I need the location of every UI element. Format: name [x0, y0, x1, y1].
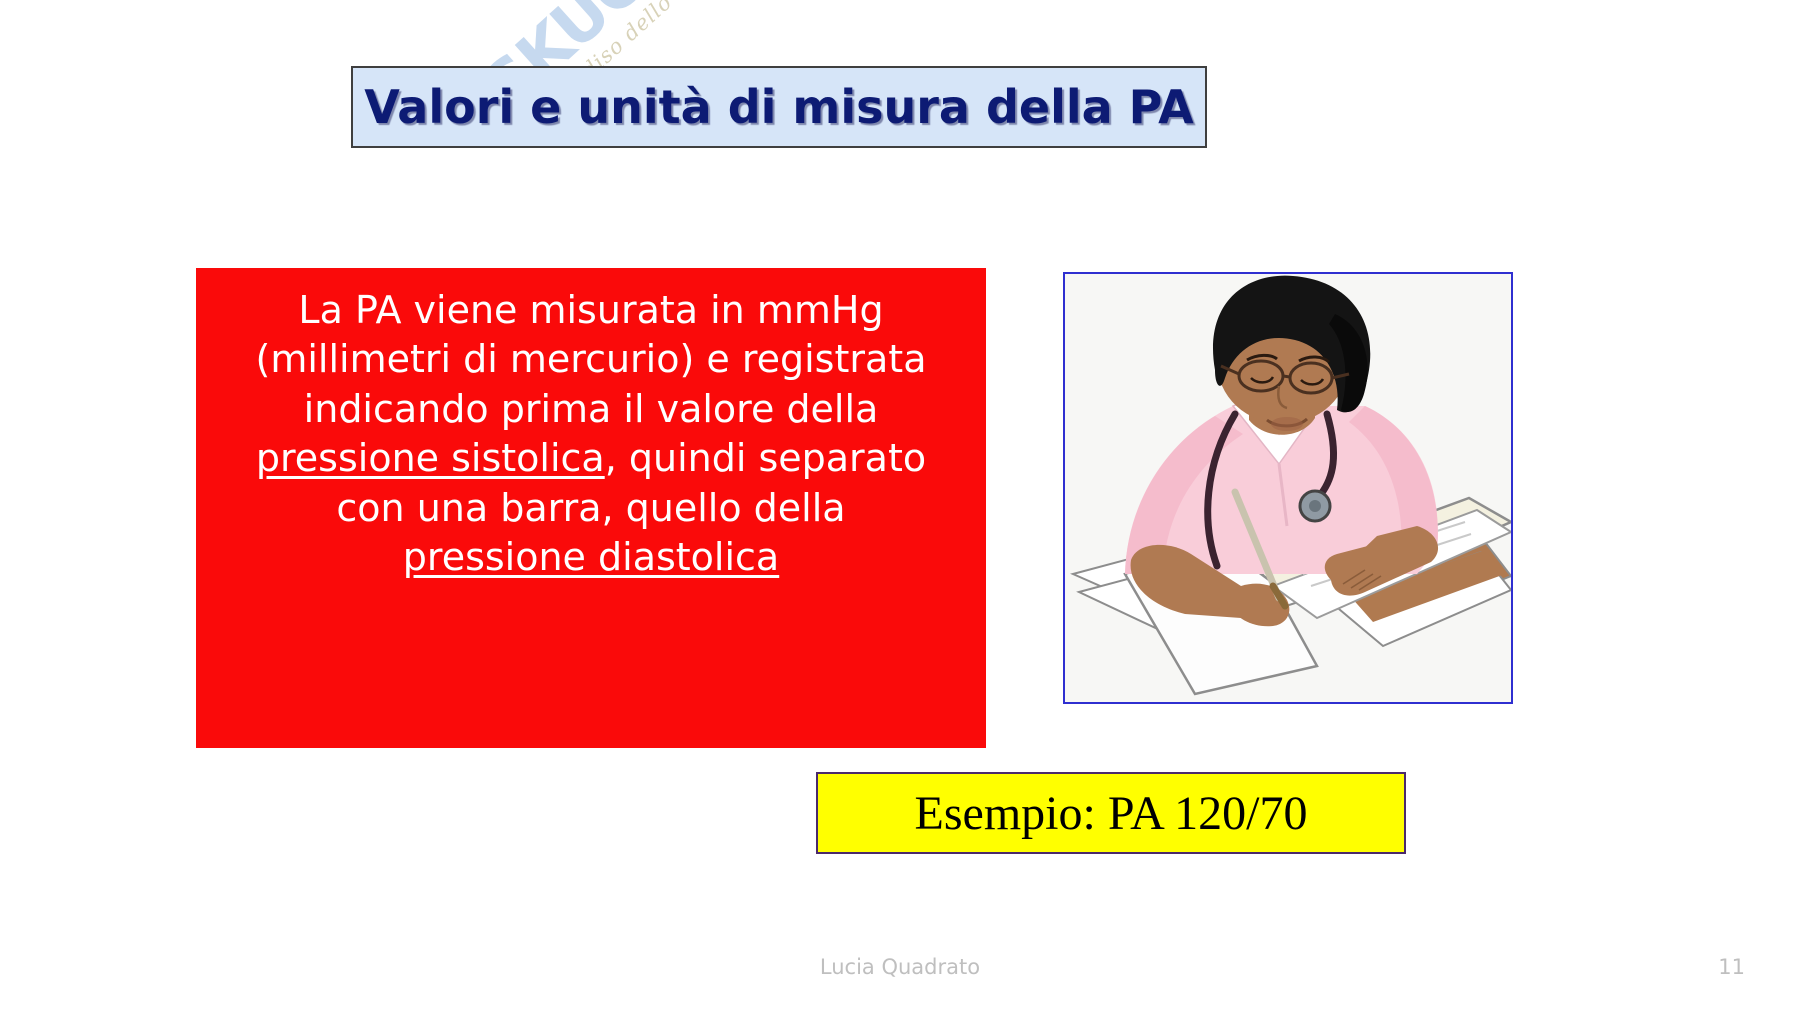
content-line: (millimetri di mercurio) e registrata: [206, 335, 976, 384]
content-red-text: La PA viene misurata in mmHg(millimetri …: [196, 286, 986, 582]
slide-canvas: SKUOLA.net Il paradiso dello studente Va…: [0, 0, 1800, 1013]
footer-page-number: 11: [1718, 955, 1745, 979]
content-span: con una barra, quello della: [336, 486, 845, 530]
content-line: La PA viene misurata in mmHg: [206, 286, 976, 335]
content-line: con una barra, quello della: [206, 484, 976, 533]
content-span: (millimetri di mercurio) e registrata: [256, 337, 927, 381]
slide-title-box: Valori e unità di misura della PA: [351, 66, 1207, 148]
content-span: indicando prima il valore della: [304, 387, 879, 431]
content-line: pressione diastolica: [206, 533, 976, 582]
content-line: indicando prima il valore della: [206, 385, 976, 434]
footer-author: Lucia Quadrato: [0, 955, 1800, 979]
example-box: Esempio: PA 120/70: [816, 772, 1406, 854]
content-span: La PA viene misurata in mmHg: [298, 288, 883, 332]
nurse-writing-image: [1063, 272, 1513, 704]
content-line: pressione sistolica, quindi separato: [206, 434, 976, 483]
example-text: Esempio: PA 120/70: [915, 786, 1308, 841]
content-span: , quindi separato: [605, 436, 926, 480]
page-title: Valori e unità di misura della PA: [364, 80, 1194, 134]
content-red-box: La PA viene misurata in mmHg(millimetri …: [196, 268, 986, 748]
content-emphasis: pressione diastolica: [403, 535, 779, 579]
content-emphasis: pressione sistolica: [256, 436, 605, 480]
